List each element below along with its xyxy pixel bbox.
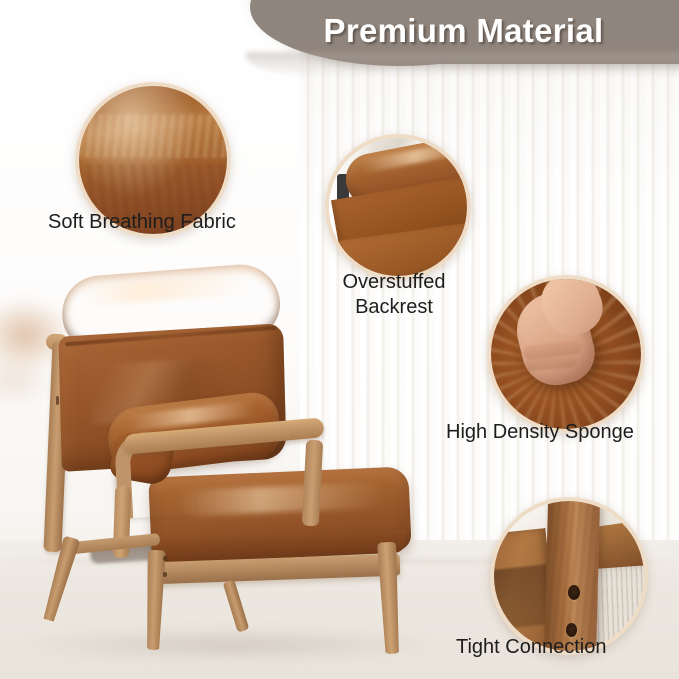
page-title: Premium Material [256, 0, 671, 62]
callout-circle-high-density-sponge [487, 275, 645, 433]
chair-armrest-rear-post [302, 440, 323, 527]
callout-label-tight-connection: Tight Connection [456, 635, 606, 660]
callout-label-overstuffed-backrest: Overstuffed Backrest [325, 270, 463, 320]
joint-closeup-left-shadow [491, 564, 553, 630]
product-feature-image: Premium Material [0, 0, 679, 679]
chair-armrest [114, 426, 324, 546]
chair-frame-screw-upper [56, 396, 59, 405]
callout-label-high-density-sponge: High Density Sponge [446, 420, 634, 445]
leather-highlight-streaks [79, 114, 227, 158]
chair-frame-screw-mid [163, 556, 167, 561]
callout-circle-tight-connection [490, 497, 648, 655]
chair-floor-shadow [20, 630, 440, 660]
chair-center-brace [223, 579, 250, 632]
chair-frame-screw-lower [163, 572, 167, 577]
joint-closeup-screw-hole-upper [568, 585, 580, 600]
callout-circle-overstuffed-backrest [325, 134, 471, 280]
callout-label-soft-breathing-fabric: Soft Breathing Fabric [48, 210, 236, 235]
